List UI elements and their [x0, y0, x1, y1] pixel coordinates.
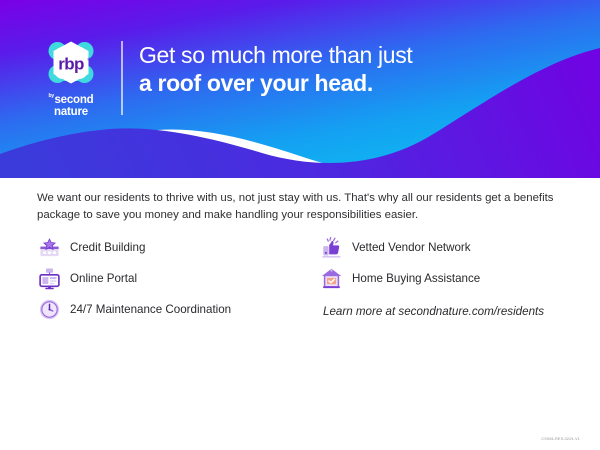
benefit-label: Home Buying Assistance [352, 272, 480, 286]
logo-tagline-word2: nature [34, 107, 108, 119]
intro-paragraph: We want our residents to thrive with us,… [37, 190, 557, 224]
flyer-page: rbp ® bysecond nature Get so much more t… [0, 0, 600, 450]
benefit-label: Online Portal [70, 272, 137, 286]
benefit-label: Vetted Vendor Network [352, 241, 471, 255]
benefits-section: Credit Building Onli [37, 232, 582, 325]
benefit-label: Credit Building [70, 241, 145, 255]
online-portal-icon [37, 267, 61, 291]
hero-divider [121, 41, 123, 115]
headline-line-1: Get so much more than just [139, 42, 412, 69]
benefit-item-online-portal: Online Portal [37, 263, 319, 294]
clock-icon [37, 298, 61, 322]
benefits-column-right: Vetted Vendor Network Home Buying Assist… [319, 232, 582, 325]
logo-tagline: bysecond nature [34, 91, 108, 119]
thumbs-up-icon [319, 236, 343, 260]
benefit-item-maintenance: 24/7 Maintenance Coordination [37, 294, 319, 325]
logo-tagline-word1: second [54, 94, 93, 106]
headline-line-2: a roof over your head. [139, 70, 412, 97]
document-code: CS006-RES-0224-V1 [541, 437, 580, 441]
credit-building-icon [37, 236, 61, 260]
home-check-icon [319, 267, 343, 291]
benefit-label: 24/7 Maintenance Coordination [70, 303, 231, 317]
benefit-item-credit-building: Credit Building [37, 232, 319, 263]
rbp-logo-icon: rbp ® [45, 38, 97, 88]
benefits-column-left: Credit Building Onli [37, 232, 319, 325]
benefit-item-home-buying: Home Buying Assistance [319, 263, 582, 294]
svg-text:rbp: rbp [58, 55, 84, 74]
hero-banner: rbp ® bysecond nature Get so much more t… [0, 0, 600, 178]
learn-more-link[interactable]: Learn more at secondnature.com/residents [323, 305, 582, 318]
benefit-item-vetted-vendor: Vetted Vendor Network [319, 232, 582, 263]
rbp-logo-lockup: rbp ® bysecond nature [34, 38, 108, 116]
hero-headline: Get so much more than just a roof over y… [139, 42, 412, 97]
